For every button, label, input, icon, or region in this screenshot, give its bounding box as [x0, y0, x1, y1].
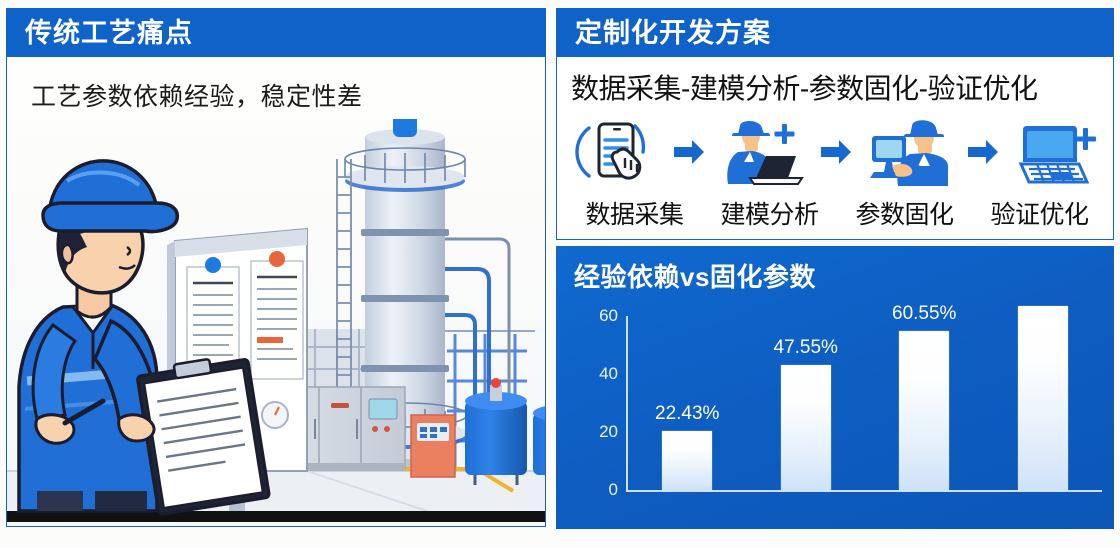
y-axis-ticks: 60 40 20 0 — [556, 306, 618, 529]
arrow-right-icon — [672, 137, 706, 167]
solution-title: 定制化开发方案 — [575, 20, 771, 47]
pain-points-body: 工艺参数依赖经验，稳定性差 — [7, 57, 545, 526]
table-row[interactable] — [662, 431, 712, 490]
bar-value-label-4: 89.99% — [973, 246, 1113, 247]
engineer-monitor-icon — [866, 116, 952, 188]
y-tick-60: 60 — [562, 306, 618, 326]
flow-label-2: 建模分析 — [720, 195, 818, 231]
bar-slot-1: 22.43% — [632, 306, 742, 490]
table-row[interactable] — [781, 365, 831, 490]
comparison-chart-panel: 经验依赖vs固化参数 60 40 20 0 22.43% 47.55% — [556, 246, 1114, 529]
bar-slot-4: 89.99% — [988, 306, 1098, 490]
pain-points-panel: 传统工艺痛点 工艺参数依赖经验，稳定性差 — [6, 8, 546, 527]
pain-points-title: 传统工艺痛点 — [25, 20, 193, 47]
bar-value-label-1: 22.43% — [617, 403, 757, 425]
y-tick-0: 0 — [562, 480, 618, 500]
process-flow-labels: 数据采集 建模分析 参数固化 验证优化 — [567, 195, 1107, 231]
chart-title: 经验依赖vs固化参数 — [574, 257, 816, 294]
engineer-laptop-plus-icon — [720, 116, 806, 188]
pain-points-header: 传统工艺痛点 — [7, 9, 545, 57]
arrow-right-icon — [966, 137, 1000, 167]
flow-label-1: 数据采集 — [585, 195, 683, 231]
arrow-right-icon — [819, 137, 853, 167]
chart-bars: 22.43% 47.55% 60.55% 89.99% — [628, 306, 1102, 490]
x-axis-line — [626, 490, 1102, 492]
tablet-touch-icon — [573, 116, 659, 188]
table-row[interactable] — [899, 331, 949, 490]
industrial-worker-plant-illustration — [7, 119, 545, 526]
bar-value-label-3: 60.55% — [854, 303, 994, 325]
flow-label-3: 参数固化 — [855, 195, 953, 231]
solution-header: 定制化开发方案 — [557, 9, 1113, 57]
table-row[interactable] — [1018, 306, 1068, 490]
flow-label-4: 验证优化 — [990, 195, 1088, 231]
bar-slot-2: 47.55% — [751, 306, 861, 490]
y-tick-40: 40 — [562, 364, 618, 384]
bar-value-label-2: 47.55% — [736, 337, 876, 359]
flow-steps-text: 数据采集-建模分析-参数固化-验证优化 — [571, 67, 1037, 107]
solution-panel: 定制化开发方案 数据采集-建模分析-参数固化-验证优化 — [556, 8, 1114, 240]
process-flow-row — [567, 114, 1105, 190]
laptop-plus-icon — [1013, 116, 1099, 188]
slide-canvas: 传统工艺痛点 工艺参数依赖经验，稳定性差 — [0, 0, 1120, 548]
chart-plot-area: 60 40 20 0 22.43% 47.55% 60.55% — [556, 306, 1114, 529]
y-tick-20: 20 — [562, 422, 618, 442]
bar-slot-3: 60.55% — [869, 306, 979, 490]
pain-points-subtitle: 工艺参数依赖经验，稳定性差 — [31, 77, 363, 113]
